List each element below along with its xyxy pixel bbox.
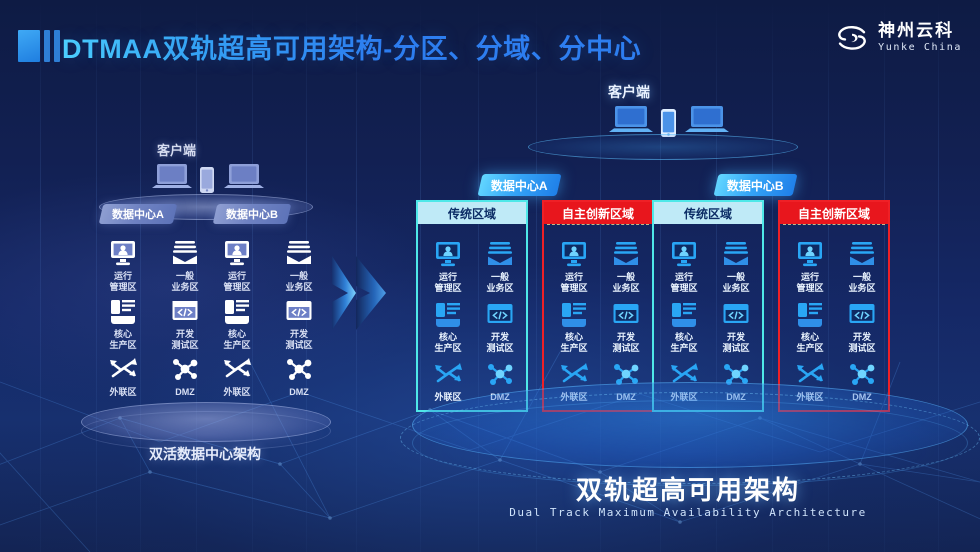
stacked-inbox-icon (611, 239, 641, 269)
code-window-icon (721, 299, 751, 329)
left-client-label: 客户端 (157, 140, 196, 159)
zone-cell: 核心 生产区 (422, 299, 474, 354)
zone-cell: 外联区 (97, 354, 149, 398)
zone-cell: 核心 生产区 (548, 299, 600, 354)
zone-label: 核心 生产区 (97, 329, 149, 351)
stacked-inbox-icon (170, 238, 200, 268)
server-database-icon (559, 299, 589, 329)
zone-cell: 开发 测试区 (474, 299, 526, 354)
right-title-cn: 双轨超高可用架构 (398, 470, 978, 507)
server-database-icon (669, 299, 699, 329)
zone-label: 外联区 (211, 387, 263, 398)
stacked-inbox-icon (485, 239, 515, 269)
zone-header: 自主创新区域 (780, 202, 888, 224)
right-client-platform (528, 134, 798, 160)
zone-label: 运行 管理区 (548, 272, 600, 294)
datacenter-a-group: 传统区域 运行 管理区 (416, 200, 654, 412)
zone-cell: 运行 管理区 (97, 238, 149, 293)
zone-label: DMZ (159, 387, 211, 398)
zone-label: 一般 业务区 (600, 272, 652, 294)
monitor-user-icon (669, 239, 699, 269)
zone-cell: 开发 测试区 (836, 299, 888, 354)
zone-cell: 核心 生产区 (211, 296, 263, 351)
zone-label: 一般 业务区 (836, 272, 888, 294)
zone-label: 开发 测试区 (273, 329, 325, 351)
server-database-icon (222, 296, 252, 326)
zone-header: 自主创新区域 (544, 202, 652, 224)
zone-cell: 运行 管理区 (784, 239, 836, 294)
zone-cell: 外联区 (422, 359, 474, 403)
zone-label: 一般 业务区 (474, 272, 526, 294)
zone-label: 核心 生产区 (422, 332, 474, 354)
zone-cell: 核心 生产区 (97, 296, 149, 351)
zone-cell: 运行 管理区 (658, 239, 710, 294)
zone-label: 一般 业务区 (273, 271, 325, 293)
zone-header: 传统区域 (418, 202, 526, 224)
brand-logo: 神州云科 Yunke China (835, 22, 962, 53)
molecule-node-icon (284, 354, 314, 384)
network-branch-icon (433, 359, 463, 389)
server-database-icon (795, 299, 825, 329)
left-diagram: 客户端 数据中心A 数据中心B (75, 130, 335, 460)
zone-cell: 一般 业务区 (710, 239, 762, 294)
stacked-inbox-icon (721, 239, 751, 269)
dc-a-traditional-zone: 传统区域 运行 管理区 (416, 200, 528, 412)
zone-cell: 运行 管理区 (422, 239, 474, 294)
zone-header: 传统区域 (654, 202, 762, 224)
zone-label: 运行 管理区 (784, 272, 836, 294)
double-chevron-right-icon (330, 250, 390, 336)
zone-label: 一般 业务区 (710, 272, 762, 294)
zone-label: 核心 生产区 (211, 329, 263, 351)
zone-cell: 运行 管理区 (211, 238, 263, 293)
zone-cell: 开发 测试区 (273, 296, 325, 351)
network-branch-icon (108, 354, 138, 384)
laptop-icon (151, 162, 193, 196)
right-diagram: 客户端 数据中心A 数据中心B 传统区域 (398, 82, 978, 502)
laptop-icon (223, 162, 265, 196)
dc-a-innovation-zone: 自主创新区域 运行 管理区 (542, 200, 654, 412)
zone-label: 核心 生产区 (658, 332, 710, 354)
zone-cell: 外联区 (211, 354, 263, 398)
zone-label: 外联区 (97, 387, 149, 398)
left-caption: 双活数据中心架构 (75, 444, 335, 464)
slide-canvas: DTMAA双轨超高可用架构-分区、分域、分中心 神州云科 Yunke China… (0, 0, 980, 552)
left-dc-b-banner: 数据中心B (213, 204, 292, 224)
code-window-icon (485, 299, 515, 329)
right-client-label: 客户端 (608, 82, 650, 102)
zone-label: 核心 生产区 (784, 332, 836, 354)
stacked-inbox-icon (284, 238, 314, 268)
monitor-user-icon (795, 239, 825, 269)
monitor-user-icon (108, 238, 138, 268)
molecule-node-icon (170, 354, 200, 384)
molecule-node-icon (847, 359, 877, 389)
logo-name-en: Yunke China (878, 43, 962, 53)
zone-cell: 一般 业务区 (273, 238, 325, 293)
stacked-inbox-icon (847, 239, 877, 269)
zone-cell: 开发 测试区 (710, 299, 762, 354)
zone-label: 开发 测试区 (836, 332, 888, 354)
server-database-icon (433, 299, 463, 329)
code-window-icon (847, 299, 877, 329)
molecule-node-icon (485, 359, 515, 389)
zone-cell: 一般 业务区 (836, 239, 888, 294)
monitor-user-icon (559, 239, 589, 269)
zone-label: 运行 管理区 (422, 272, 474, 294)
network-branch-icon (222, 354, 252, 384)
header-bar: DTMAA双轨超高可用架构-分区、分域、分中心 神州云科 Yunke China (0, 0, 980, 84)
code-window-icon (611, 299, 641, 329)
zone-cell: 运行 管理区 (548, 239, 600, 294)
phone-icon (199, 166, 215, 194)
zone-label: 核心 生产区 (548, 332, 600, 354)
zone-label: 一般 业务区 (159, 271, 211, 293)
zone-label: 开发 测试区 (600, 332, 652, 354)
monitor-user-icon (433, 239, 463, 269)
three-bars-icon (18, 30, 60, 62)
zone-label: 开发 测试区 (710, 332, 762, 354)
zone-label: 开发 测试区 (474, 332, 526, 354)
zone-cell: 一般 业务区 (474, 239, 526, 294)
zone-cell: 一般 业务区 (600, 239, 652, 294)
logo-name-cn: 神州云科 (878, 22, 962, 39)
left-dc-a-banner: 数据中心A (99, 204, 178, 224)
dc-b-traditional-zone: 传统区域 运行 管理区 (652, 200, 764, 412)
galaxy-spiral-icon (835, 23, 869, 53)
dc-b-innovation-zone: 自主创新区域 运行 管理区 (778, 200, 890, 412)
right-title-en: Dual Track Maximum Availability Architec… (398, 506, 978, 519)
server-database-icon (108, 296, 138, 326)
zone-label: 开发 测试区 (159, 329, 211, 351)
zone-cell: 核心 生产区 (658, 299, 710, 354)
code-window-icon (284, 296, 314, 326)
zone-cell: 核心 生产区 (784, 299, 836, 354)
zone-label: DMZ (273, 387, 325, 398)
datacenter-b-group: 传统区域 运行 管理区 (652, 200, 890, 412)
zone-cell: DMZ (273, 354, 325, 398)
zone-cell: DMZ (159, 354, 211, 398)
right-dc-a-banner: 数据中心A (477, 174, 561, 196)
right-dc-b-banner: 数据中心B (713, 174, 797, 196)
zone-cell: 开发 测试区 (600, 299, 652, 354)
monitor-user-icon (222, 238, 252, 268)
code-window-icon (170, 296, 200, 326)
zone-cell: 开发 测试区 (159, 296, 211, 351)
page-title: DTMAA双轨超高可用架构-分区、分域、分中心 (62, 27, 641, 66)
zone-label: 运行 管理区 (658, 272, 710, 294)
zone-label: 运行 管理区 (211, 271, 263, 293)
zone-cell: 一般 业务区 (159, 238, 211, 293)
zone-label: 运行 管理区 (97, 271, 149, 293)
